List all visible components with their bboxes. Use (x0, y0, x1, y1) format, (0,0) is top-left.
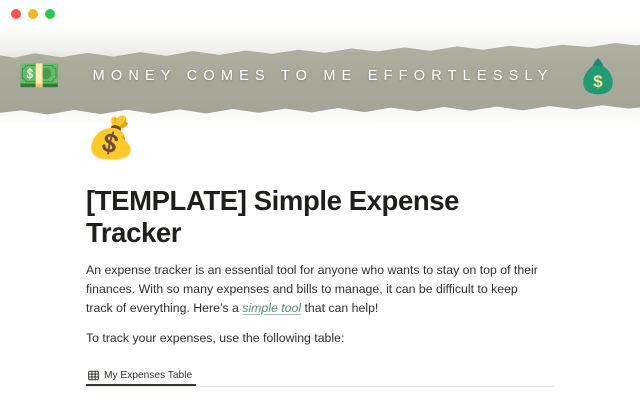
money-bag-graphic: $ (578, 55, 618, 99)
simple-tool-link[interactable]: simple tool (242, 301, 301, 315)
content-column: [TEMPLATE] Simple Expense Tracker An exp… (86, 123, 554, 400)
money-stack-emoji: 💵 (18, 59, 60, 93)
traffic-light-controls (11, 9, 55, 19)
document-body: [TEMPLATE] Simple Expense Tracker An exp… (0, 123, 640, 400)
cover-banner-text: MONEY COMES TO ME EFFORTLESSLY (0, 28, 640, 123)
svg-text:$: $ (593, 72, 603, 91)
intro-paragraph[interactable]: An expense tracker is an essential tool … (86, 248, 538, 317)
window-titlebar (0, 0, 640, 28)
close-window-button[interactable] (11, 9, 21, 19)
database-tab-bar: My Expenses Table (86, 365, 554, 387)
money-bag-page-icon[interactable]: 💰 (86, 118, 136, 158)
instruction-paragraph[interactable]: To track your expenses, use the followin… (86, 317, 538, 348)
database-title[interactable]: My Expenses (86, 387, 554, 400)
tab-my-expenses-table[interactable]: My Expenses Table (86, 365, 196, 386)
tab-label: My Expenses Table (104, 370, 192, 381)
page-title[interactable]: [TEMPLATE] Simple Expense Tracker (86, 123, 554, 248)
maximize-window-button[interactable] (45, 9, 55, 19)
app-window: 💵 $ MONEY COMES TO ME EFFORTLESSLY 💰 [TE… (0, 0, 640, 400)
page-cover-banner[interactable]: 💵 $ MONEY COMES TO ME EFFORTLESSLY (0, 28, 640, 123)
minimize-window-button[interactable] (28, 9, 38, 19)
intro-text-after: that can help! (301, 301, 378, 315)
tab-bar-divider (86, 386, 554, 387)
table-icon (88, 370, 99, 381)
